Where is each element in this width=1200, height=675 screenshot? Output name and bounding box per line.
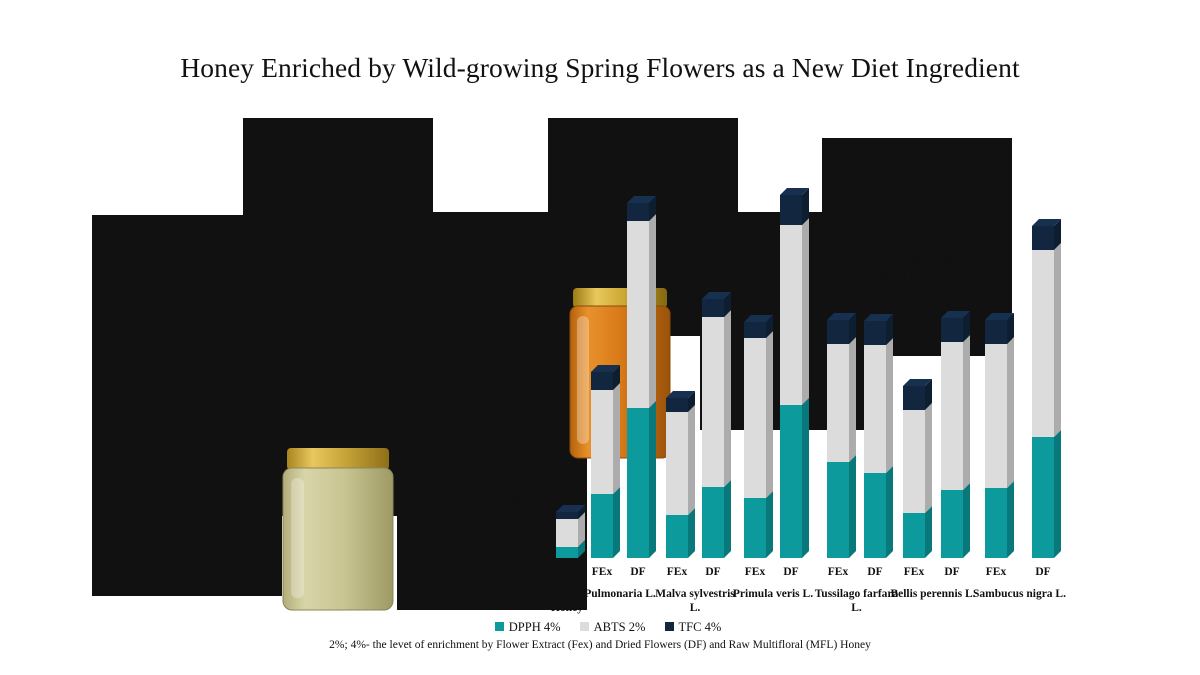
segment-abts: [591, 390, 613, 494]
segment-dpph-side: [1007, 481, 1014, 558]
segment-abts: [827, 344, 849, 462]
segment-abts: [744, 338, 766, 498]
chart-bar: [666, 391, 695, 558]
segment-abts: [627, 221, 649, 408]
segment-abts: [666, 412, 688, 515]
chart-bar: [627, 196, 656, 558]
segment-dpph-side: [724, 480, 731, 558]
legend-swatch-tfc: [665, 622, 674, 631]
chart-xtick: DF: [1018, 566, 1068, 578]
segment-abts: [903, 410, 925, 513]
segment-abts-side: [724, 310, 731, 487]
segment-abts-side: [766, 331, 773, 498]
legend-label-dpph: DPPH 4%: [509, 620, 561, 634]
segment-tfc: [556, 512, 578, 519]
chart-bar: [864, 314, 893, 558]
chart-bar: [780, 188, 809, 558]
segment-tfc: [864, 321, 886, 345]
segment-tfc: [702, 299, 724, 317]
segment-dpph-side: [886, 466, 893, 558]
chart-group-label: Malva sylvestris L.: [650, 588, 740, 615]
segment-abts-side: [925, 403, 932, 513]
segment-dpph: [556, 547, 578, 558]
chart-bar: [985, 313, 1014, 558]
chart-bar: [941, 311, 970, 558]
segment-dpph-side: [925, 506, 932, 558]
segment-dpph-side: [849, 455, 856, 558]
segment-abts-side: [1007, 337, 1014, 488]
segment-dpph: [627, 408, 649, 558]
chart-bar: [556, 505, 585, 558]
segment-abts: [941, 342, 963, 490]
segment-abts: [985, 344, 1007, 488]
segment-dpph: [941, 490, 963, 558]
segment-abts-side: [613, 383, 620, 494]
chart-xtick: FEx: [971, 566, 1021, 578]
segment-dpph: [827, 462, 849, 558]
segment-dpph: [591, 494, 613, 558]
chart-bar: [1032, 219, 1061, 558]
segment-abts-side: [963, 335, 970, 490]
segment-tfc: [627, 203, 649, 221]
segment-abts-side: [688, 405, 695, 515]
stacked-bar-chart: RawFExDFFExDFFExDFFExDFFExDFFExDFMFL Hon…: [0, 0, 1200, 675]
segment-abts: [702, 317, 724, 487]
chart-xtick: DF: [766, 566, 816, 578]
segment-tfc: [903, 386, 925, 410]
chart-bar: [827, 313, 856, 558]
segment-dpph-side: [1054, 430, 1061, 558]
segment-tfc: [985, 320, 1007, 344]
legend-label-abts: ABTS 2%: [594, 620, 646, 634]
chart-group-label: Bellis perennis L.: [887, 588, 979, 602]
segment-dpph-side: [802, 398, 809, 558]
segment-tfc: [591, 372, 613, 390]
segment-tfc: [744, 322, 766, 338]
legend-swatch-dpph: [495, 622, 504, 631]
segment-abts-side: [649, 214, 656, 408]
segment-tfc: [941, 318, 963, 342]
segment-dpph: [985, 488, 1007, 558]
segment-abts-side: [849, 337, 856, 462]
chart-bar: [591, 365, 620, 558]
chart-group-label: Sambucus nigra L.: [969, 588, 1070, 602]
segment-dpph-side: [649, 401, 656, 558]
segment-dpph: [1032, 437, 1054, 558]
segment-abts: [864, 345, 886, 473]
chart-bar: [744, 315, 773, 558]
segment-dpph: [702, 487, 724, 558]
segment-tfc: [780, 195, 802, 225]
segment-dpph: [666, 515, 688, 558]
segment-dpph: [864, 473, 886, 558]
chart-group-label: Primula veris L.: [728, 588, 818, 602]
chart-footnote: 2%; 4%- the levet of enrichment by Flowe…: [0, 639, 1200, 651]
segment-abts: [780, 225, 802, 405]
segment-abts: [1032, 250, 1054, 437]
segment-dpph-side: [963, 483, 970, 558]
segment-dpph-side: [766, 491, 773, 558]
chart-legend: DPPH 4% ABTS 2% TFC 4%: [0, 620, 1200, 635]
segment-dpph-side: [613, 487, 620, 558]
legend-label-tfc: TFC 4%: [679, 620, 722, 634]
chart-xtick: DF: [927, 566, 977, 578]
segment-abts-side: [802, 218, 809, 405]
chart-bar: [903, 379, 932, 558]
segment-abts-side: [1054, 243, 1061, 437]
chart-bar: [702, 292, 731, 558]
segment-dpph: [903, 513, 925, 558]
segment-abts-side: [886, 338, 893, 473]
segment-dpph: [780, 405, 802, 558]
segment-dpph: [744, 498, 766, 558]
segment-tfc: [1032, 226, 1054, 250]
legend-swatch-abts: [580, 622, 589, 631]
segment-abts: [556, 519, 578, 547]
segment-tfc: [666, 398, 688, 412]
segment-dpph-side: [688, 508, 695, 558]
segment-tfc: [827, 320, 849, 344]
